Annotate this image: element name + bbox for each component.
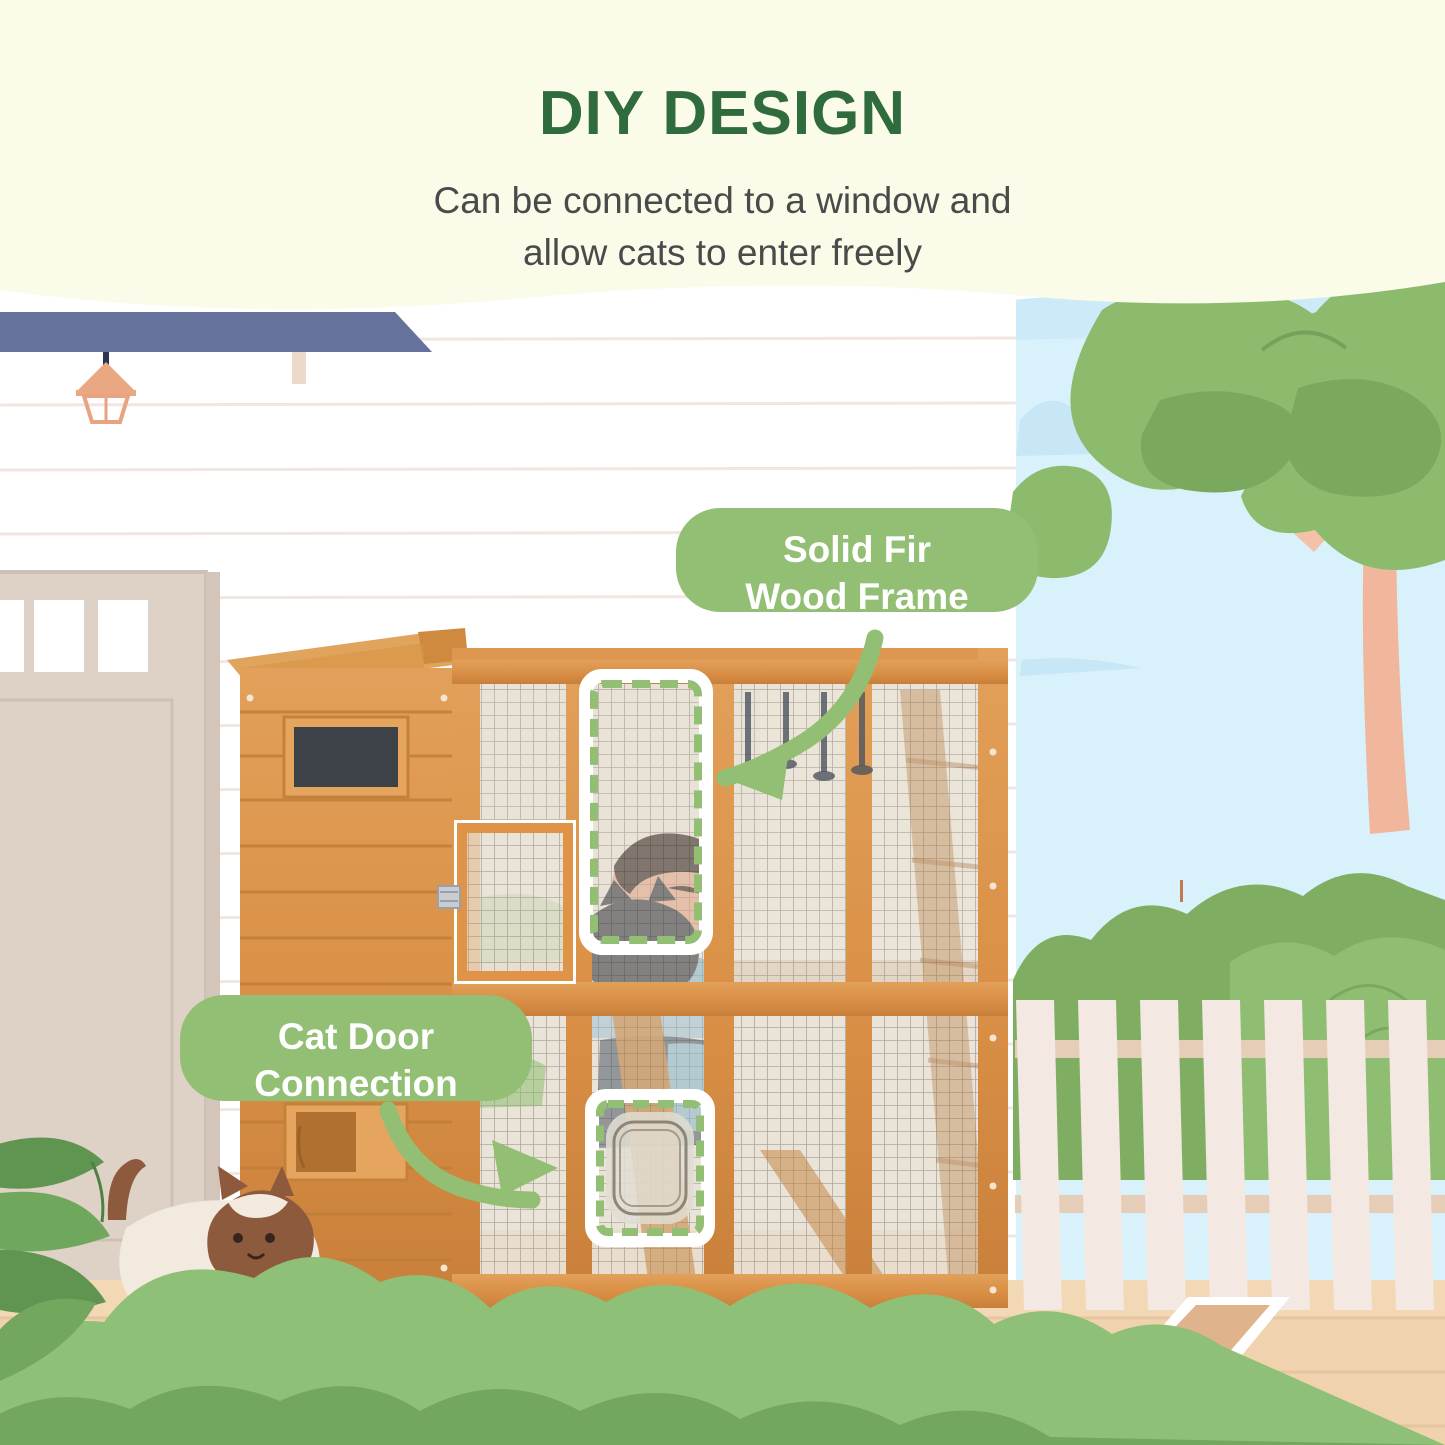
callout-door-line-2: Connection [210,1060,502,1107]
door-latch[interactable] [438,886,460,908]
dark-window-panel [284,717,408,797]
page-subtitle: Can be connected to a window and allow c… [0,175,1445,279]
subtitle-line-1: Can be connected to a window and [433,180,1011,221]
callout-frame-line-2: Wood Frame [706,573,1008,620]
page-title: DIY DESIGN [0,78,1445,149]
transparent-cat-flap [606,1112,694,1224]
callout-frame-line-1: Solid Fir [706,526,1008,573]
foreground-plant [0,1138,110,1314]
callout-door-line-1: Cat Door [210,1013,502,1060]
callout-badge-cat-door-connection[interactable]: Cat Door Connection [180,995,532,1101]
infographic-canvas: DIY DESIGN Can be connected to a window … [0,0,1445,1445]
callout-badge-solid-fir-wood-frame[interactable]: Solid Fir Wood Frame [676,508,1038,612]
subtitle-line-2: allow cats to enter freely [523,232,922,273]
wire-mesh-access-door[interactable] [438,822,574,982]
